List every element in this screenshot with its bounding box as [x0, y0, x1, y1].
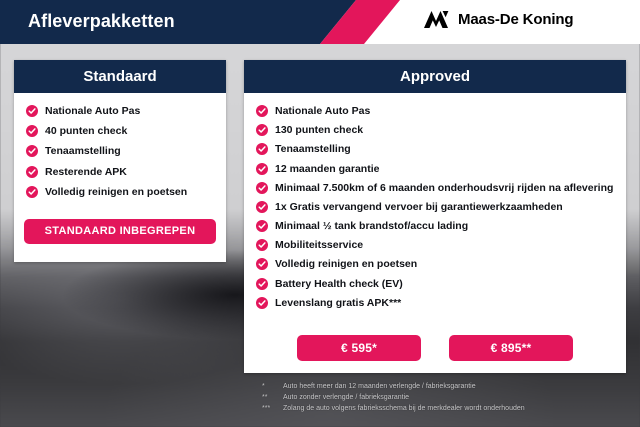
footnote-text: Zolang de auto volgens fabrieksschema bi… [283, 403, 632, 414]
card-body-approved: Nationale Auto Pas 130 punten check Tena… [244, 93, 626, 310]
feature-label: 12 maanden garantie [275, 162, 379, 176]
card-title-standaard: Standaard [14, 60, 226, 93]
check-circle-icon [26, 145, 38, 157]
feature-item: Nationale Auto Pas [26, 104, 216, 118]
footnote-mark: *** [262, 403, 275, 414]
check-circle-icon [256, 220, 268, 232]
price-button-595[interactable]: € 595* [297, 335, 421, 361]
feature-item: Nationale Auto Pas [256, 104, 616, 118]
maas-de-koning-m-logo-icon [422, 10, 450, 29]
feature-item: Battery Health check (EV) [256, 277, 616, 291]
footnote-mark: ** [262, 392, 275, 403]
footnote-item: * Auto heeft meer dan 12 maanden verleng… [262, 381, 632, 392]
check-circle-icon [26, 125, 38, 137]
feature-label: 130 punten check [275, 123, 363, 137]
feature-label: Volledig reinigen en poetsen [45, 185, 187, 199]
standaard-inbegrepen-button[interactable]: STANDAARD INBEGREPEN [24, 219, 216, 244]
feature-item: Tenaamstelling [26, 144, 216, 158]
check-circle-icon [26, 186, 38, 198]
check-circle-icon [256, 201, 268, 213]
package-card-standaard: Standaard Nationale Auto Pas 40 punten c… [14, 60, 226, 262]
feature-item: 40 punten check [26, 124, 216, 138]
feature-label: Tenaamstelling [45, 144, 121, 158]
feature-label: Volledig reinigen en poetsen [275, 257, 417, 271]
feature-item: Levenslang gratis APK*** [256, 296, 616, 310]
feature-label: Nationale Auto Pas [275, 104, 370, 118]
check-circle-icon [256, 278, 268, 290]
feature-item: 1x Gratis vervangend vervoer bij garanti… [256, 200, 616, 214]
feature-item: Tenaamstelling [256, 142, 616, 156]
feature-list-standaard: Nationale Auto Pas 40 punten check Tenaa… [26, 104, 216, 199]
check-circle-icon [256, 105, 268, 117]
feature-label: Minimaal 7.500km of 6 maanden onderhouds… [275, 181, 613, 195]
brand-logo: Maas-De Koning [422, 10, 573, 29]
feature-item: Mobiliteitsservice [256, 238, 616, 252]
check-circle-icon [26, 166, 38, 178]
check-circle-icon [256, 239, 268, 251]
card-title-approved: Approved [244, 60, 626, 93]
package-card-approved: Approved Nationale Auto Pas 130 punten c… [244, 60, 626, 373]
feature-label: Mobiliteitsservice [275, 238, 363, 252]
footnote-item: *** Zolang de auto volgens fabrieksschem… [262, 403, 632, 414]
check-circle-icon [256, 163, 268, 175]
check-circle-icon [256, 143, 268, 155]
check-circle-icon [26, 105, 38, 117]
feature-item: Volledig reinigen en poetsen [256, 257, 616, 271]
footnote-item: ** Auto zonder verlengde / fabrieksgaran… [262, 392, 632, 403]
check-circle-icon [256, 297, 268, 309]
footnote-mark: * [262, 381, 275, 392]
feature-label: Levenslang gratis APK*** [275, 296, 401, 310]
feature-item: Minimaal 7.500km of 6 maanden onderhouds… [256, 181, 616, 195]
feature-item: Resterende APK [26, 165, 216, 179]
feature-label: 40 punten check [45, 124, 127, 138]
brand-name: Maas-De Koning [458, 11, 573, 28]
footnote-text: Auto zonder verlengde / fabrieksgarantie [283, 392, 632, 403]
feature-item: 12 maanden garantie [256, 162, 616, 176]
card-body-standaard: Nationale Auto Pas 40 punten check Tenaa… [14, 93, 226, 199]
check-circle-icon [256, 258, 268, 270]
feature-item: Volledig reinigen en poetsen [26, 185, 216, 199]
price-button-row: € 595* € 895** [244, 335, 626, 361]
check-circle-icon [256, 182, 268, 194]
footnote-text: Auto heeft meer dan 12 maanden verlengde… [283, 381, 632, 392]
feature-label: Nationale Auto Pas [45, 104, 140, 118]
page-header: Afleverpakketten Maas-De Koning [0, 0, 640, 44]
afleverpakketten-page: Afleverpakketten Maas-De Koning Standaar… [0, 0, 640, 427]
feature-label: Resterende APK [45, 165, 127, 179]
feature-label: Tenaamstelling [275, 142, 351, 156]
feature-label: Minimaal ½ tank brandstof/accu lading [275, 219, 468, 233]
feature-label: Battery Health check (EV) [275, 277, 403, 291]
check-circle-icon [256, 124, 268, 136]
feature-list-approved: Nationale Auto Pas 130 punten check Tena… [256, 104, 616, 310]
price-button-895[interactable]: € 895** [449, 335, 573, 361]
page-title: Afleverpakketten [28, 11, 175, 32]
footnotes: * Auto heeft meer dan 12 maanden verleng… [262, 381, 632, 414]
feature-label: 1x Gratis vervangend vervoer bij garanti… [275, 200, 563, 214]
feature-item: 130 punten check [256, 123, 616, 137]
feature-item: Minimaal ½ tank brandstof/accu lading [256, 219, 616, 233]
